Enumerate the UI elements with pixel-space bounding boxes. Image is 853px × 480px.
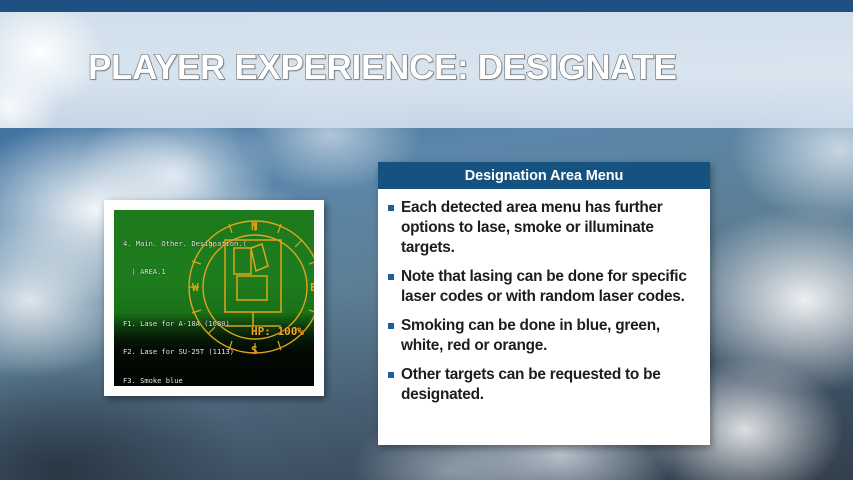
terminal-screen: N E S W 4.: [114, 210, 314, 386]
bullet-square-icon: [388, 274, 394, 280]
bullet-text-4: Other targets can be requested to be des…: [401, 365, 698, 405]
page-title: PLAYER EXPERIENCE: DESIGNATE: [88, 48, 677, 88]
bullet-text-1: Each detected area menu has further opti…: [401, 198, 698, 258]
designation-area-menu-panel: Designation Area Menu Each detected area…: [378, 162, 710, 445]
list-item: Smoking can be done in blue, green, whit…: [388, 316, 698, 356]
bullet-text-2: Note that lasing can be done for specifi…: [401, 267, 698, 307]
terminal-text-block: 4. Main. Other. Designation.( ) AREA.1 F…: [123, 220, 310, 386]
panel-header-title: Designation Area Menu: [378, 162, 710, 189]
list-item: Each detected area menu has further opti…: [388, 198, 698, 258]
terminal-menu-item-f2[interactable]: F2. Lase for SU-25T (1113): [123, 347, 310, 356]
terminal-screenshot-frame: N E S W 4.: [104, 200, 324, 396]
panel-body: Each detected area menu has further opti…: [378, 189, 710, 445]
list-item: Note that lasing can be done for specifi…: [388, 267, 698, 307]
bullet-square-icon: [388, 323, 394, 329]
bullet-square-icon: [388, 205, 394, 211]
slide-canvas: PLAYER EXPERIENCE: DESIGNATE: [0, 0, 853, 480]
terminal-header-line-1: 4. Main. Other. Designation.(: [123, 239, 310, 248]
list-item: Other targets can be requested to be des…: [388, 365, 698, 405]
terminal-menu-item-f3[interactable]: F3. Smoke blue: [123, 376, 310, 385]
bullet-square-icon: [388, 372, 394, 378]
top-accent-band: [0, 0, 853, 12]
bullet-text-3: Smoking can be done in blue, green, whit…: [401, 316, 698, 356]
svg-text:E: E: [310, 281, 314, 294]
hp-status-label: HP: 100%: [251, 325, 304, 338]
terminal-header-line-2: ) AREA.1: [123, 267, 310, 276]
